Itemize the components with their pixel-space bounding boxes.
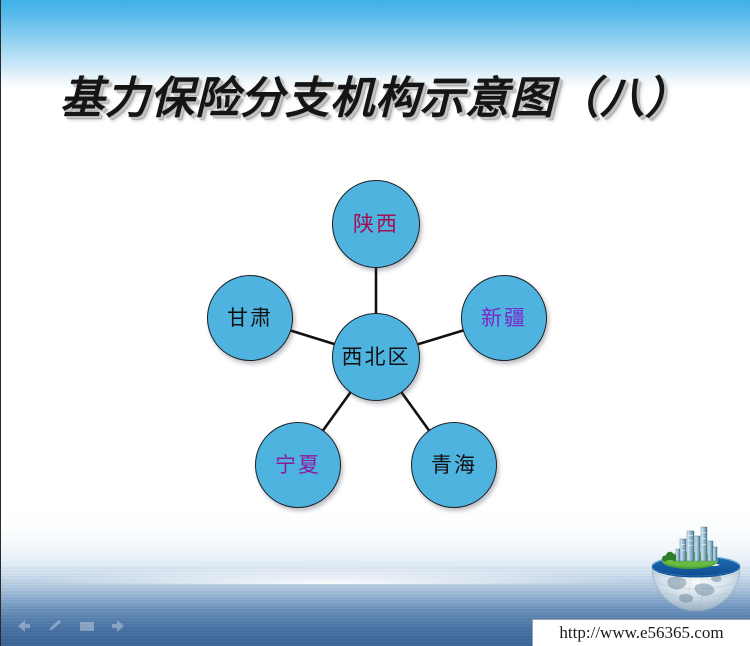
node-label-gansu: 甘肃 xyxy=(227,308,273,329)
branch-node-xinjiang[interactable]: 新疆 xyxy=(461,275,547,361)
branch-node-shaanxi[interactable]: 陕西 xyxy=(332,180,420,268)
node-label-center: 西北区 xyxy=(342,347,411,368)
node-label-ningxia: 宁夏 xyxy=(275,455,321,476)
branch-node-gansu[interactable]: 甘肃 xyxy=(207,275,293,361)
pen-icon[interactable] xyxy=(46,618,64,634)
globe-graphic xyxy=(646,523,746,615)
previous-arrow-icon[interactable] xyxy=(14,618,32,634)
node-label-qinghai: 青海 xyxy=(431,455,477,476)
node-label-xinjiang: 新疆 xyxy=(481,308,527,329)
connector-center-to-gansu xyxy=(290,330,335,344)
connector-center-to-ningxia xyxy=(323,392,351,431)
branch-node-qinghai[interactable]: 青海 xyxy=(411,422,497,508)
center-node-center[interactable]: 西北区 xyxy=(332,313,420,401)
connector-center-to-xinjiang xyxy=(417,330,464,344)
branch-node-ningxia[interactable]: 宁夏 xyxy=(255,422,341,508)
slide-canvas: 基力保险分支机构示意图（八） 西北区陕西甘肃新疆宁夏青海 xyxy=(0,0,750,646)
connector-center-to-qinghai xyxy=(401,392,429,431)
slide-menu-icon[interactable] xyxy=(78,618,96,634)
node-label-shaanxi: 陕西 xyxy=(353,214,399,235)
website-url-text: http://www.e56365.com xyxy=(559,623,723,643)
slideshow-nav-controls[interactable] xyxy=(14,618,128,634)
next-arrow-icon[interactable] xyxy=(110,618,128,634)
website-url-box: http://www.e56365.com xyxy=(532,619,750,646)
